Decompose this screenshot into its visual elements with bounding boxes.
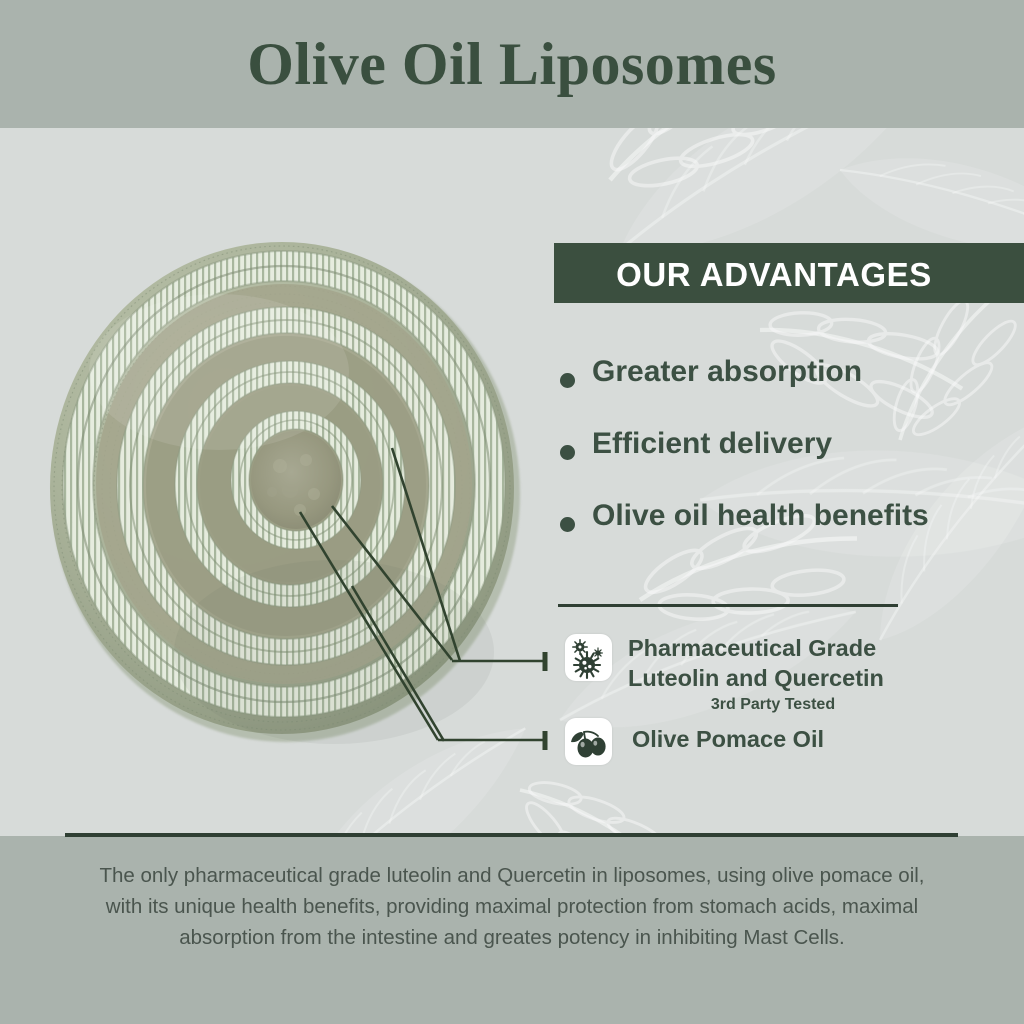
advantage-label: Olive oil health benefits bbox=[592, 499, 929, 533]
badge-label-line1: Pharmaceutical Grade bbox=[628, 633, 928, 663]
bullet-dot-icon bbox=[560, 517, 575, 532]
infographic-page: Olive Oil Liposomes bbox=[0, 0, 1024, 1024]
footer-description: The only pharmaceutical grade luteolin a… bbox=[90, 860, 934, 953]
advantage-label: Greater absorption bbox=[592, 355, 862, 389]
advantage-item-1: Efficient delivery bbox=[554, 424, 1024, 496]
footer-divider bbox=[65, 833, 958, 837]
advantage-item-2: Olive oil health benefits bbox=[554, 496, 1024, 568]
third-party-tested-label: 3rd Party Tested bbox=[628, 696, 918, 714]
badge-pharmaceutical-grade bbox=[565, 634, 612, 681]
microbe-icon bbox=[565, 634, 612, 681]
section-divider bbox=[558, 604, 898, 607]
badge-label-line2: Luteolin and Quercetin bbox=[628, 663, 928, 693]
liposome-illustration bbox=[34, 222, 544, 762]
badge-olive-label: Olive Pomace Oil bbox=[632, 726, 824, 753]
bullet-dot-icon bbox=[560, 445, 575, 460]
badge-pharmaceutical-label: Pharmaceutical Grade Luteolin and Querce… bbox=[628, 633, 928, 693]
olives-icon bbox=[565, 718, 612, 765]
bullet-dot-icon bbox=[560, 373, 575, 388]
advantages-list: Greater absorption Efficient delivery Ol… bbox=[554, 352, 1024, 568]
badge-olive-pomace-oil bbox=[565, 718, 612, 765]
advantages-banner: OUR ADVANTAGES bbox=[554, 243, 1024, 303]
advantage-item-0: Greater absorption bbox=[554, 352, 1024, 424]
advantage-label: Efficient delivery bbox=[592, 427, 832, 461]
page-title: Olive Oil Liposomes bbox=[0, 30, 1024, 99]
advantages-banner-label: OUR ADVANTAGES bbox=[554, 256, 994, 294]
